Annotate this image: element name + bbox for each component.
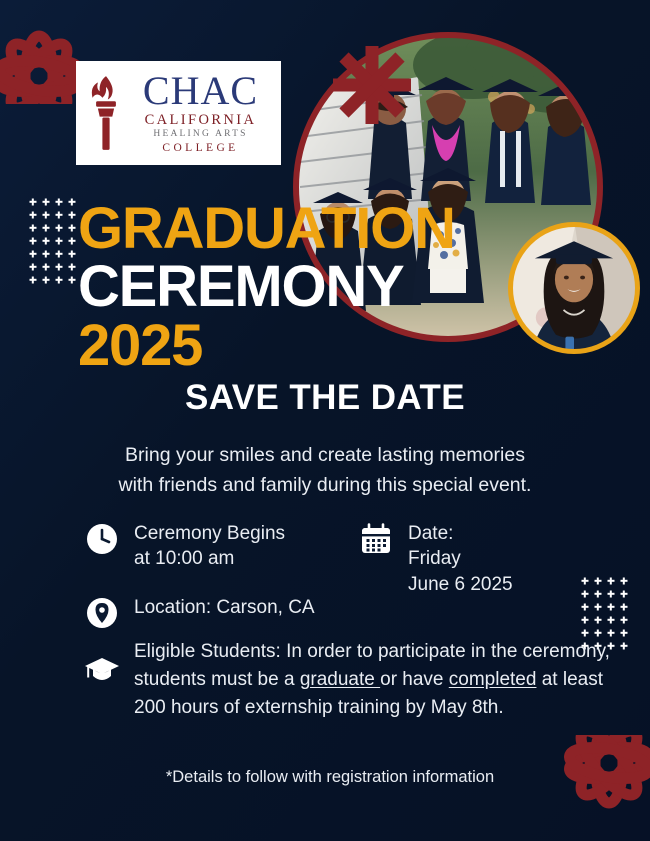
logo-chac-text: CHAC [143, 71, 258, 111]
date-value: June 6 2025 [408, 572, 513, 597]
intro-line-2: with friends and family during this spec… [0, 471, 650, 501]
location-pin-icon [84, 595, 120, 631]
ceremony-time-line-1: Ceremony Begins [134, 521, 285, 546]
clock-icon [84, 521, 120, 557]
footnote-text: *Details to follow with registration inf… [0, 768, 650, 787]
eligibility-text: Eligible Students: In order to participa… [134, 638, 632, 722]
eligibility-underline-completed: completed [449, 669, 537, 690]
torch-icon [88, 74, 124, 152]
detail-date: Date: Friday June 6 2025 [358, 521, 588, 597]
intro-line-1: Bring your smiles and create lasting mem… [0, 441, 650, 471]
detail-eligibility: Eligible Students: In order to participa… [84, 638, 632, 722]
logo-line-california: CALIFORNIA [145, 111, 257, 129]
eligibility-part-2: or have [380, 669, 449, 690]
title-line-year: 2025 [78, 319, 455, 372]
title-line-graduation: GRADUATION [78, 202, 455, 255]
logo-line-healing-arts: HEALING ARTS [153, 129, 247, 141]
detail-location: Location: Carson, CA [84, 595, 384, 631]
logo-line-college: COLLEGE [162, 141, 238, 155]
title-line-ceremony: CEREMONY [78, 260, 455, 313]
graduate-portrait-photo [508, 222, 640, 354]
intro-paragraph: Bring your smiles and create lasting mem… [0, 441, 650, 500]
graduation-cap-icon [84, 652, 120, 688]
date-weekday: Friday [408, 546, 513, 571]
save-the-date-heading: SAVE THE DATE [0, 378, 650, 418]
ceremony-time-line-2: at 10:00 am [134, 546, 285, 571]
dot-grid [29, 198, 76, 284]
flyer-canvas: CHAC CALIFORNIA HEALING ARTS COLLEGE GRA… [0, 0, 650, 841]
chac-logo: CHAC CALIFORNIA HEALING ARTS COLLEGE [76, 61, 281, 165]
flower-icon [534, 735, 650, 841]
photo-gold-ring [508, 222, 640, 354]
date-label: Date: [408, 521, 513, 546]
page-title: GRADUATION CEREMONY 2025 [78, 202, 455, 372]
eligibility-underline-graduate: graduate [300, 669, 380, 690]
detail-ceremony-time: Ceremony Begins at 10:00 am [84, 521, 334, 572]
calendar-icon [358, 521, 394, 557]
location-text: Location: Carson, CA [134, 595, 315, 620]
